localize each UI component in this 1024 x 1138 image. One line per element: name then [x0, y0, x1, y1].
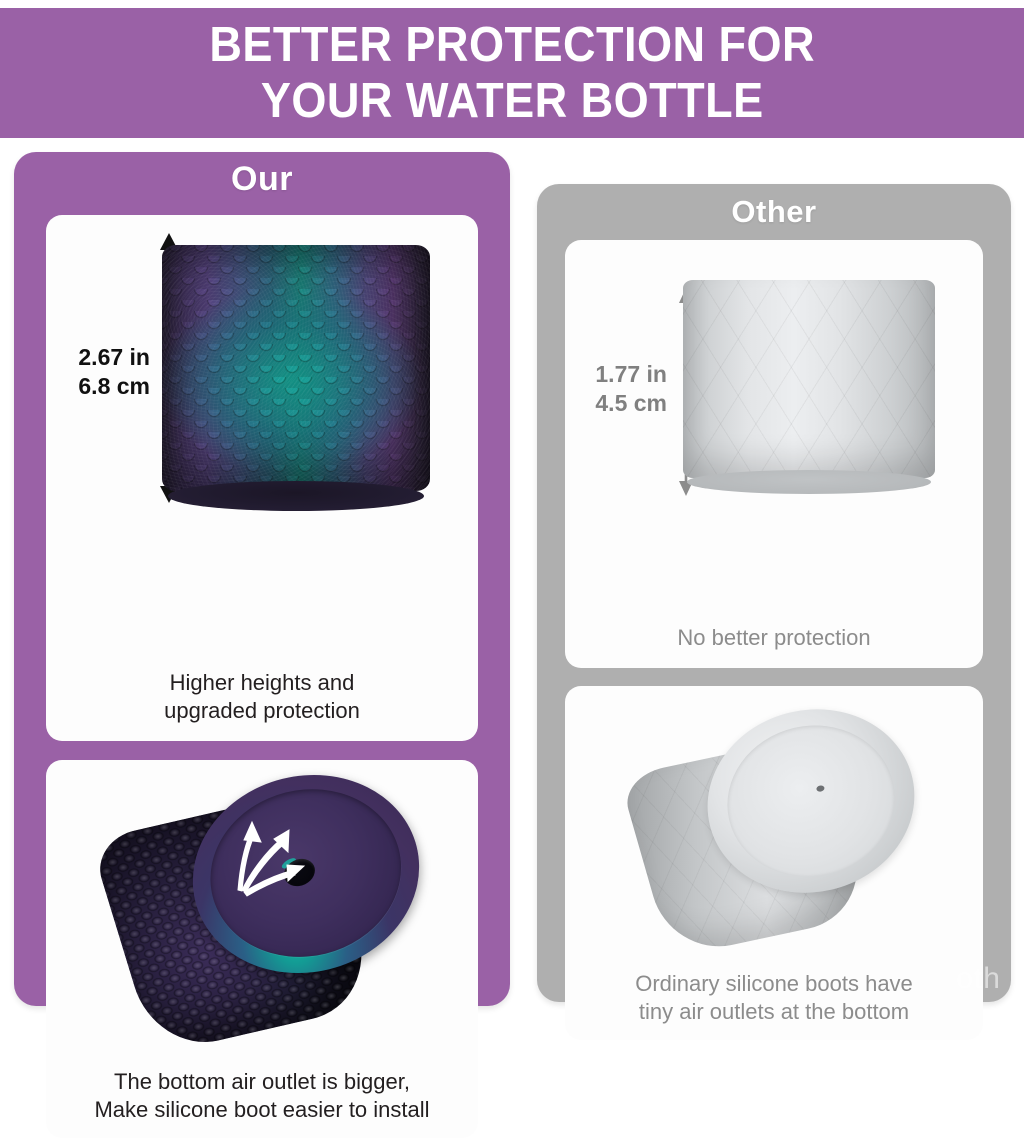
- our-boot-glitter-grain: [162, 245, 430, 491]
- header-title-line-2: YOUR WATER BOTTLE: [261, 73, 764, 129]
- dimension-cm-other: 4.5 cm: [577, 389, 667, 418]
- caption-other-height-line-1: No better protection: [575, 624, 973, 652]
- caption-our-height: Higher heights and upgraded protection: [46, 669, 478, 725]
- air-outlet-tiny-hole: [816, 785, 825, 793]
- caption-our-air-outlet: The bottom air outlet is bigger, Make si…: [46, 1068, 478, 1124]
- product-image-other-boot-upright: [683, 270, 935, 496]
- card-our-air-outlet: The bottom air outlet is bigger, Make si…: [46, 760, 478, 1138]
- header-title-line-1: BETTER PROTECTION FOR: [209, 17, 815, 73]
- air-outlet-large-hole: [279, 854, 319, 891]
- dimension-label-our: 2.67 in 6.8 cm: [58, 343, 150, 401]
- other-boot-base: [687, 470, 931, 494]
- card-our-height: 2.67 in 6.8 cm Higher heights and upgrad…: [46, 215, 478, 741]
- panel-other: Other 1.77 in 4.5 cm No better protectio…: [537, 184, 1011, 1002]
- caption-other-height: No better protection: [565, 624, 983, 652]
- product-image-our-boot-tilted: [114, 766, 414, 1056]
- our-boot-base: [168, 481, 424, 511]
- caption-our-height-line-2: upgraded protection: [56, 697, 468, 725]
- our-boot-body: [162, 245, 430, 491]
- other-boot-tilt-bottom-recess: [712, 709, 909, 893]
- dimension-cm-our: 6.8 cm: [58, 372, 150, 401]
- dimension-inches-our: 2.67 in: [58, 343, 150, 372]
- panel-other-title: Other: [537, 194, 1011, 230]
- caption-other-air-outlet: Ordinary silicone boots have tiny air ou…: [565, 970, 983, 1026]
- watermark: oth: [956, 962, 1001, 996]
- other-boot-diamond-texture: [683, 280, 935, 478]
- our-boot-tilt-bottom-recess: [193, 769, 419, 977]
- panel-our-title: Our: [14, 160, 510, 199]
- caption-other-air-outlet-line-2: tiny air outlets at the bottom: [575, 998, 973, 1026]
- card-other-air-outlet: Ordinary silicone boots have tiny air ou…: [565, 686, 983, 1040]
- product-image-our-boot-upright: [162, 233, 430, 503]
- caption-our-height-line-1: Higher heights and: [56, 669, 468, 697]
- caption-other-air-outlet-line-1: Ordinary silicone boots have: [575, 970, 973, 998]
- dimension-label-other: 1.77 in 4.5 cm: [577, 360, 667, 418]
- product-image-other-boot-tilted: [639, 696, 919, 964]
- card-other-height: 1.77 in 4.5 cm No better protection: [565, 240, 983, 668]
- dimension-inches-other: 1.77 in: [577, 360, 667, 389]
- panel-our: Our 2.67 in 6.8 cm Higher heights a: [14, 152, 510, 1006]
- caption-our-air-outlet-line-1: The bottom air outlet is bigger,: [56, 1068, 468, 1096]
- other-boot-body: [683, 280, 935, 478]
- header-banner: BETTER PROTECTION FOR YOUR WATER BOTTLE: [0, 8, 1024, 138]
- caption-our-air-outlet-line-2: Make silicone boot easier to install: [56, 1096, 468, 1124]
